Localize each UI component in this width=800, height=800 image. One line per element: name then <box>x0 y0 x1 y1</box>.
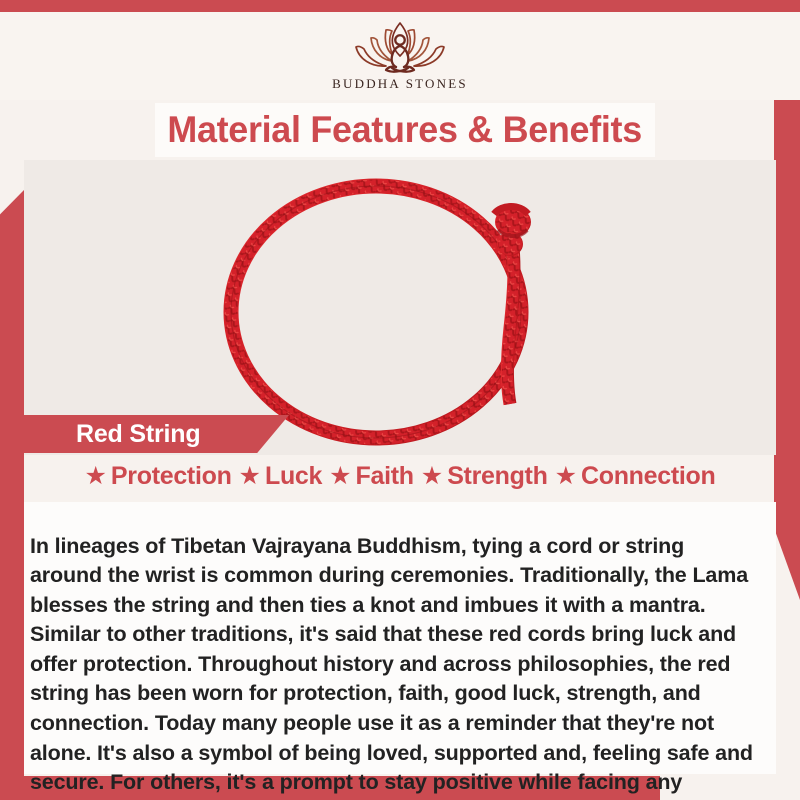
title-band: Material Features & Benefits <box>155 103 655 157</box>
benefit-item-faith: ★ Faith <box>329 462 414 491</box>
benefit-item-strength: ★ Strength <box>421 462 548 491</box>
frame-bar-top <box>0 0 800 12</box>
product-name-label: Red String <box>76 420 200 449</box>
benefit-label: Luck <box>265 462 322 491</box>
brand-name: BUDDHA STONES <box>285 76 515 92</box>
infographic-poster: BUDDHA STONES Material Features & Benefi… <box>0 0 800 800</box>
benefits-row: ★ Protection ★ Luck ★ Faith ★ Strength ★… <box>24 462 776 491</box>
benefit-label: Protection <box>111 462 232 491</box>
product-photo <box>24 160 776 455</box>
star-icon: ★ <box>85 464 107 489</box>
benefit-item-luck: ★ Luck <box>239 462 323 491</box>
benefit-item-connection: ★ Connection <box>555 462 716 491</box>
benefit-item-protection: ★ Protection <box>85 462 232 491</box>
red-string-bracelet-illustration <box>24 160 776 455</box>
description-paragraph: In lineages of Tibetan Vajrayana Buddhis… <box>24 524 776 800</box>
benefit-label: Faith <box>356 462 414 491</box>
brand-logo: BUDDHA STONES <box>285 16 515 92</box>
benefit-label: Strength <box>447 462 547 491</box>
product-name-banner: Red String <box>24 415 289 453</box>
star-icon: ★ <box>421 464 443 489</box>
description-panel: In lineages of Tibetan Vajrayana Buddhis… <box>24 502 776 774</box>
star-icon: ★ <box>239 464 261 489</box>
star-icon: ★ <box>555 464 577 489</box>
page-title: Material Features & Benefits <box>168 109 643 151</box>
star-icon: ★ <box>329 464 351 489</box>
benefit-label: Connection <box>581 462 716 491</box>
lotus-meditation-icon <box>340 16 460 78</box>
frame-bar-left <box>0 190 24 800</box>
brand-header: BUDDHA STONES <box>0 12 800 100</box>
